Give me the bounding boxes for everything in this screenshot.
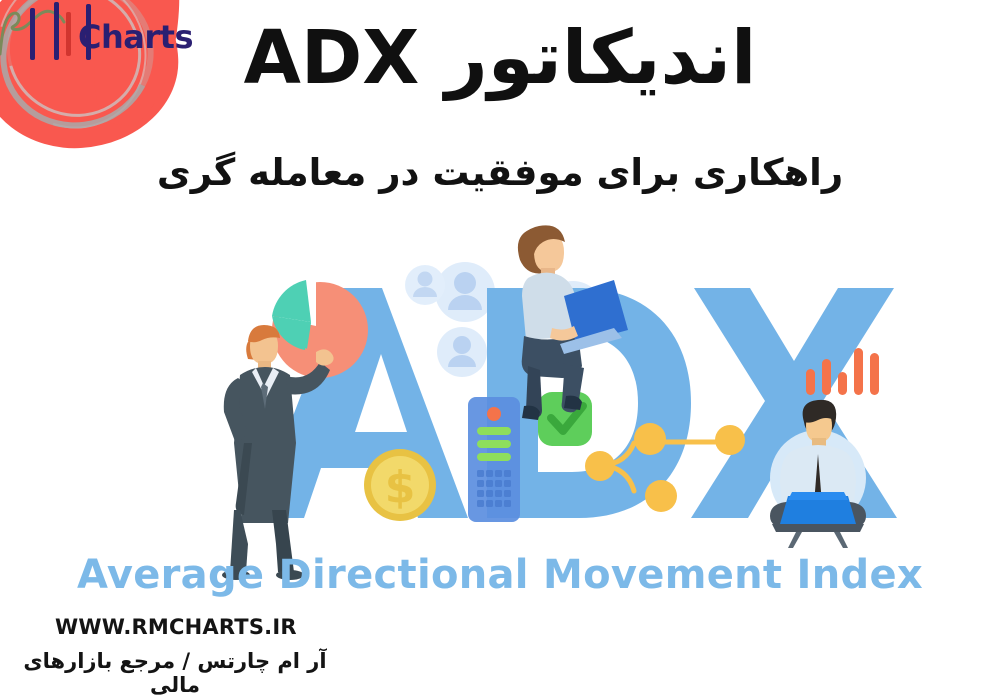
adx-illustration: $: [0, 200, 1000, 600]
website-url[interactable]: WWW.RMCHARTS.IR: [55, 615, 297, 639]
cover-canvas: Charts اندیکاتور ADX راهکاری برای موفقیت…: [0, 0, 1000, 700]
dollar-coin-icon: $: [364, 449, 436, 521]
avatar-bubble-3: [437, 327, 487, 377]
adx-illustration-svg: $: [0, 200, 1000, 600]
illustration-caption: Average Directional Movement Index: [0, 552, 1000, 598]
page-subtitle: راهکاری برای موفقیت در معامله گری: [0, 150, 1000, 196]
woman-with-laptop-figure: [518, 225, 628, 420]
calculator-icon: [468, 397, 520, 522]
footer-tagline: آر ام چارتس / مرجع بازارهای مالی: [10, 649, 340, 697]
avatar-bubble-1: [435, 262, 495, 322]
page-title: اندیکاتور ADX: [0, 18, 1000, 99]
svg-text:$: $: [385, 462, 416, 513]
footer: WWW.RMCHARTS.IR آر ام چارتس / مرجع بازار…: [0, 615, 1000, 695]
avatar-bubble-2: [405, 265, 445, 305]
